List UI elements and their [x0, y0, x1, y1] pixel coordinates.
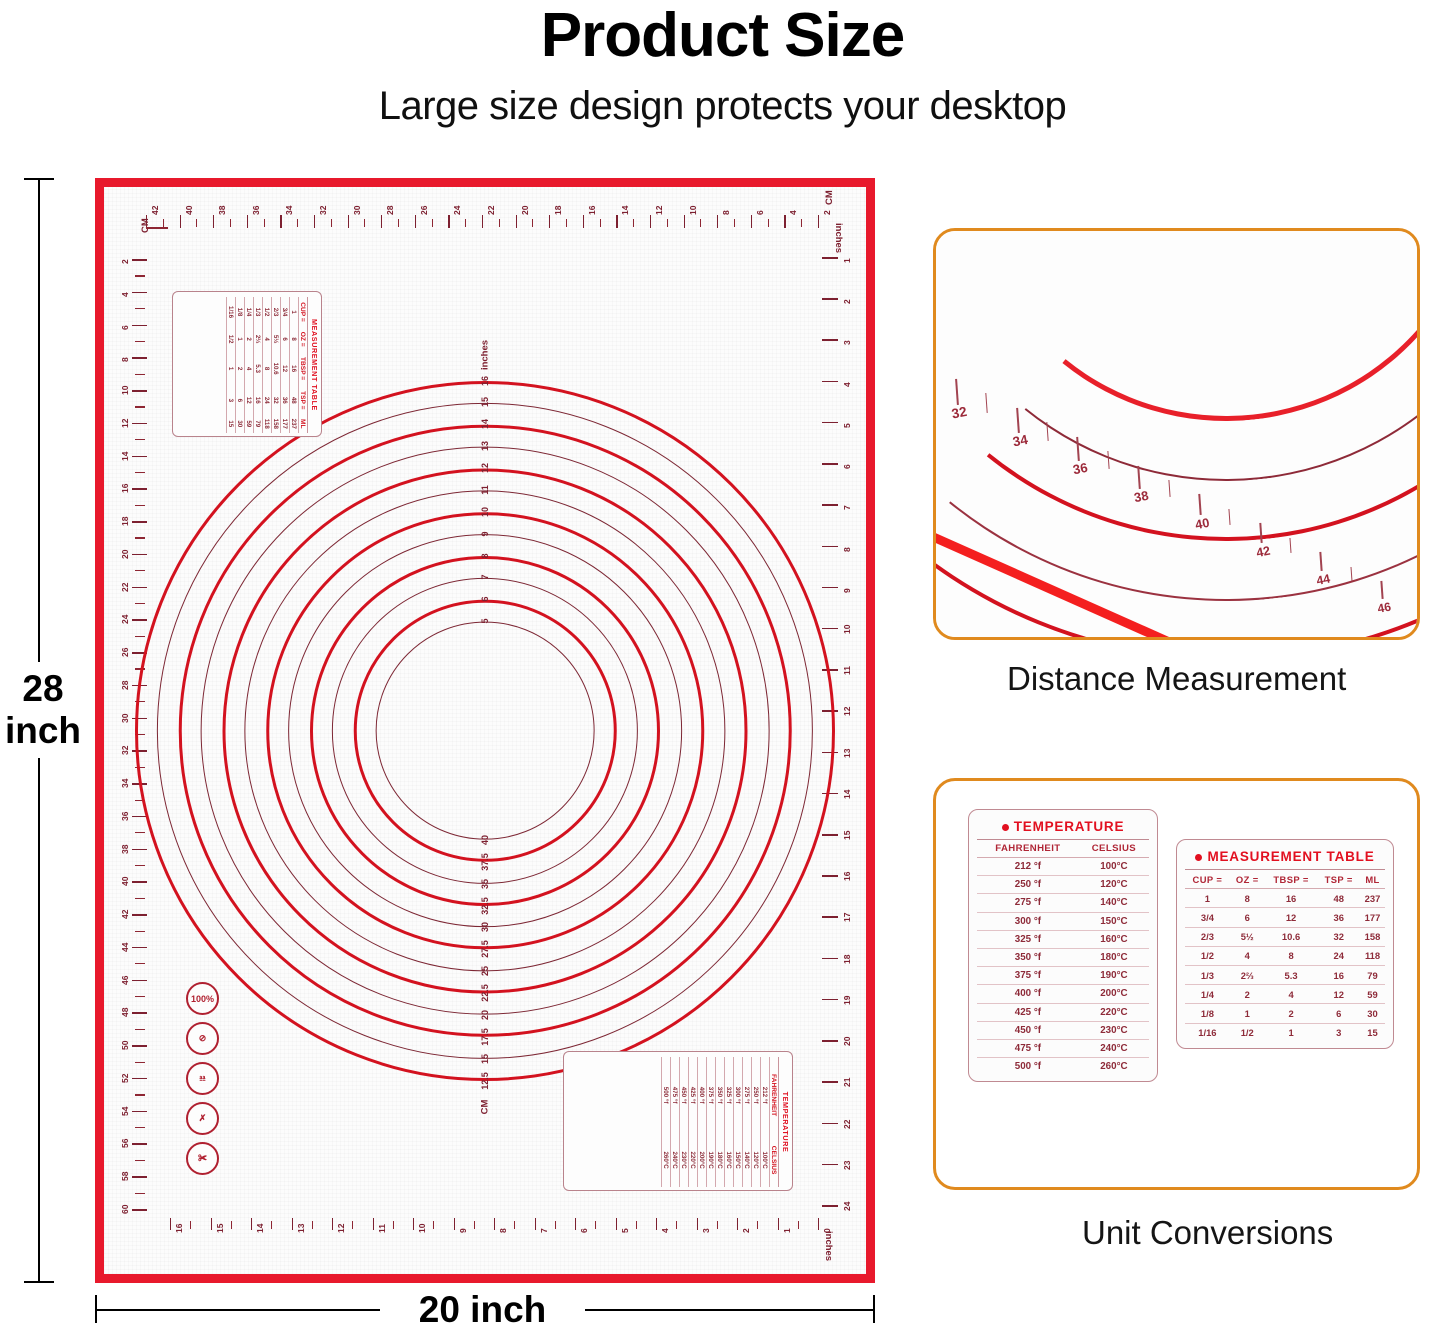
ruler-label: 16: [842, 872, 852, 881]
mat-meas-cell: 5½: [272, 327, 281, 351]
mat-meas-cell: 2: [236, 351, 245, 386]
mat-meas-header: CUP =: [299, 297, 308, 327]
temperature-row: 375 °f190°C: [977, 967, 1149, 985]
ruler-tick: [822, 463, 838, 465]
ruler-tick: [822, 999, 838, 1001]
ruler-tick: [132, 357, 147, 359]
ruler-label: 24: [120, 615, 130, 624]
measurement-cell: 12: [1317, 985, 1360, 1004]
mat-meas-cell: 1: [227, 351, 236, 386]
ruler-tick: [132, 980, 147, 982]
ruler-tick: [822, 958, 838, 960]
bullet-dot-icon: [1002, 824, 1009, 831]
ruler-tick: [650, 215, 651, 228]
mat-meas-cell: 158: [272, 415, 281, 433]
mat-meas-cell: 48: [290, 386, 299, 415]
ruler-label: 4: [842, 382, 852, 387]
temperature-safe-icon: ⎂: [186, 1062, 219, 1095]
measurement-cell: 2⅔: [1230, 965, 1265, 984]
mat-surface: 42403836343230282624222018161412108642CM…: [104, 187, 866, 1274]
temperature-cell: 425 °f: [977, 1003, 1079, 1021]
ruler-tick: [132, 292, 147, 294]
ruler-unit-label-inches-right: inches: [833, 223, 844, 253]
ruler-tick-minor: [465, 219, 466, 227]
ruler-label: 26: [120, 648, 130, 657]
mat-meas-row: 1/161/21315: [227, 297, 236, 433]
center-ruler-label-in-7: 7: [480, 575, 490, 580]
ruler-tick: [132, 881, 147, 883]
ruler-unit-label-inches-bottom: inches: [823, 1231, 834, 1261]
closeup-ruler-label-34: 34: [1011, 431, 1029, 449]
measurement-cell: 1: [1265, 1023, 1318, 1042]
measurement-cell: 158: [1360, 927, 1385, 946]
ruler-tick-minor: [633, 219, 634, 227]
mat-temp-cell: 220°C: [689, 1133, 698, 1187]
ruler-label: 32: [318, 206, 328, 215]
ruler-tick: [132, 488, 147, 490]
ruler-label: 36: [251, 206, 261, 215]
mat-temp-cell: 250 °f: [752, 1057, 761, 1133]
ruler-tick-minor: [135, 996, 145, 997]
food-grade-100-percent-icon-glyph: 100%: [191, 994, 214, 1004]
no-knife-cutting-icon: ✀: [186, 1142, 219, 1175]
measurement-row: 181648237: [1185, 889, 1385, 908]
mat-meas-row: 1/812630: [236, 297, 245, 433]
ruler-label: 10: [842, 624, 852, 633]
ruler-tick-minor: [676, 1221, 677, 1229]
center-ruler-label-cm-27.5: 27.5: [480, 940, 490, 958]
temperature-cell: 120°C: [1079, 876, 1149, 894]
mat-temp-cell: 450 °f: [680, 1057, 689, 1133]
ruler-tick-minor: [135, 1062, 145, 1063]
ruler-tick-minor: [798, 1221, 799, 1229]
measurement-cell: 237: [1360, 889, 1385, 908]
measurement-cell: 4: [1230, 946, 1265, 965]
ruler-unit-label-cm-topleft: CM: [140, 218, 151, 233]
center-ruler-label-in-9: 9: [480, 531, 490, 536]
ruler-tick-minor: [532, 219, 533, 227]
ruler-label: 58: [120, 1172, 130, 1181]
measurement-row: 1/161/21315: [1185, 1023, 1385, 1042]
measurement-cell: 177: [1360, 908, 1385, 927]
ruler-label: 15: [842, 831, 852, 840]
mat-meas-row: 1/4241259: [245, 297, 254, 433]
mat-temp-row: 375 °f190°C: [707, 1057, 716, 1187]
ruler-label: 12: [842, 707, 852, 716]
mat-temp-cell: 350 °f: [716, 1057, 725, 1133]
ruler-label: 16: [587, 206, 597, 215]
closeup-ruler-label-38: 38: [1133, 487, 1150, 504]
ruler-label: 2: [822, 210, 832, 215]
ruler-tick-minor: [595, 1221, 596, 1229]
measurement-cell: 6: [1230, 908, 1265, 927]
mat-temp-row: 250 °f120°C: [752, 1057, 761, 1187]
measurement-cell: 59: [1360, 985, 1385, 1004]
ruler-tick-minor: [135, 603, 145, 604]
measurement-row: 1/4241259: [1185, 985, 1385, 1004]
food-grade-100-percent-icon: 100%: [186, 982, 219, 1015]
ruler-tick: [778, 1218, 779, 1230]
temperature-row: 275 °f140°C: [977, 894, 1149, 912]
ruler-label: 14: [842, 789, 852, 798]
temperature-row: 212 °f100°C: [977, 858, 1149, 876]
ruler-tick: [332, 1218, 333, 1230]
no-sharp-tools-icon: ✗: [186, 1102, 219, 1135]
ruler-label: 52: [120, 1073, 130, 1082]
ruler-tick: [822, 298, 838, 300]
ruler-label: 16: [174, 1224, 184, 1233]
ruler-tick-minor: [163, 219, 164, 227]
mat-temp-row: 275 °f140°C: [743, 1057, 752, 1187]
ruler-tick-minor: [135, 636, 145, 637]
ruler-tick: [132, 619, 147, 621]
ruler-tick: [784, 215, 785, 228]
mat-meas-cell: 1/2: [227, 327, 236, 351]
ruler-tick: [717, 215, 718, 228]
width-dimension-line-left: [95, 1309, 380, 1311]
ruler-label: 9: [842, 588, 852, 593]
ruler-label: 16: [120, 484, 130, 493]
ruler-label: 30: [120, 713, 130, 722]
ruler-tick: [818, 215, 819, 228]
center-ruler-label-cm-20: 20: [480, 1010, 490, 1020]
measurement-conversion-card: MEASUREMENT TABLE CUP =OZ =TBSP =TSP =ML…: [1176, 839, 1394, 1049]
measurement-row: 1/812630: [1185, 1004, 1385, 1023]
measurement-cell: 5½: [1230, 927, 1265, 946]
ruler-tick: [575, 1218, 576, 1230]
ruler-tick: [132, 423, 147, 425]
ruler-label: 14: [120, 451, 130, 460]
ruler-label: 20: [842, 1037, 852, 1046]
ruler-label: 21: [842, 1078, 852, 1087]
ruler-unit-label-cm-top: CM: [824, 190, 835, 205]
ruler-label: 8: [842, 547, 852, 552]
mat-temp-cell: 275 °f: [743, 1057, 752, 1133]
center-ruler-label-cm-17.5: 17.5: [480, 1028, 490, 1046]
mat-temp-cell: 240°C: [671, 1133, 680, 1187]
ruler-label: 42: [120, 910, 130, 919]
ruler-tick: [132, 1209, 147, 1211]
closeup-ruler-label-46: 46: [1376, 599, 1392, 615]
mat-meas-header: OZ =: [299, 327, 308, 351]
temperature-conversion-card: TEMPERATURE FAHRENHEITCELSIUS212 °f100°C…: [968, 809, 1158, 1082]
ruler-tick: [373, 1218, 374, 1230]
measurement-cell: 4: [1265, 985, 1318, 1004]
mat-meas-cell: 3: [227, 386, 236, 415]
ruler-label: 28: [120, 680, 130, 689]
mat-meas-cell: 6: [236, 386, 245, 415]
measurement-cell: 2: [1230, 985, 1265, 1004]
measurement-cell: 48: [1317, 889, 1360, 908]
ruler-tick-minor: [135, 865, 145, 866]
measurement-cell: 3/4: [1185, 908, 1230, 927]
temperature-cell: 250 °f: [977, 876, 1079, 894]
measurement-row: 1/32⅔5.31679: [1185, 965, 1385, 984]
page-subtitle: Large size design protects your desktop: [0, 80, 1445, 132]
ruler-tick: [132, 914, 147, 916]
ruler-label: 28: [385, 206, 395, 215]
temperature-row: 325 °f160°C: [977, 930, 1149, 948]
ruler-label: 40: [184, 206, 194, 215]
temperature-cell: 500 °f: [977, 1058, 1079, 1076]
ruler-tick-minor: [135, 406, 145, 407]
temperature-cell: 212 °f: [977, 858, 1079, 876]
ruler-label: 1: [842, 258, 852, 263]
center-ruler-label-in-5: 5: [480, 619, 490, 624]
mat-meas-cell: 4: [263, 327, 272, 351]
ruler-label: 24: [842, 1202, 852, 1211]
ruler-label: 11: [377, 1224, 387, 1233]
ruler-label: 48: [120, 1008, 130, 1017]
ruler-tick: [292, 1218, 293, 1230]
ruler-label: 22: [120, 582, 130, 591]
ruler-tick: [448, 215, 449, 228]
mat-meas-cell: 12: [281, 351, 290, 386]
ruler-tick: [170, 1218, 171, 1230]
height-dimension-cap-bottom: [24, 1281, 54, 1283]
measurement-cell: 8: [1265, 946, 1318, 965]
ruler-label: 8: [120, 358, 130, 363]
ruler-label: 26: [419, 206, 429, 215]
temperature-header-cell: CELSIUS: [1079, 840, 1149, 858]
ruler-label: 6: [120, 325, 130, 330]
measurement-cell: 16: [1317, 965, 1360, 984]
center-ruler-label-cm-25: 25: [480, 966, 490, 976]
ruler-tick-minor: [271, 1221, 272, 1229]
ruler-label: 38: [217, 206, 227, 215]
ruler-label: 8: [721, 210, 731, 215]
ruler-tick: [132, 849, 147, 851]
measurement-cell: 118: [1360, 946, 1385, 965]
measurement-cell: 16: [1265, 889, 1318, 908]
width-dimension-label: 20 inch: [380, 1288, 585, 1332]
ruler-tick: [822, 381, 838, 383]
mat-meas-cell: 1: [236, 327, 245, 351]
ruler-label: 5: [620, 1228, 630, 1233]
temperature-cell: 150°C: [1079, 912, 1149, 930]
ruler-tick: [822, 504, 838, 506]
temperature-row: 250 °f120°C: [977, 876, 1149, 894]
ruler-label: 20: [120, 549, 130, 558]
ruler-tick: [180, 215, 181, 228]
height-value: 28: [0, 668, 86, 710]
ruler-tick: [822, 1081, 838, 1083]
closeup-ruler-label-42: 42: [1255, 543, 1271, 560]
ruler-label: 10: [417, 1224, 427, 1233]
mat-temp-row: 325 °f160°C: [725, 1057, 734, 1187]
measurement-cell: 32: [1317, 927, 1360, 946]
mat-care-icon-list: 100%⊘⎂✗✀: [186, 982, 219, 1182]
temperature-row: 425 °f220°C: [977, 1003, 1149, 1021]
mat-meas-cell: 24: [263, 386, 272, 415]
ruler-label: 18: [842, 954, 852, 963]
ruler-tick: [132, 521, 147, 523]
measurement-header-cell: OZ =: [1230, 870, 1265, 889]
mat-meas-cell: 1/16: [227, 297, 236, 327]
no-knife-cutting-icon-glyph: ✀: [198, 1153, 207, 1164]
ruler-label: 18: [553, 206, 563, 215]
ruler-label: 4: [120, 292, 130, 297]
ruler-tick: [132, 259, 147, 261]
mat-meas-cell: 4: [245, 351, 254, 386]
distance-measurement-panel: 3234363840424446: [933, 228, 1420, 640]
mat-closeup-photo: 3234363840424446: [936, 231, 1417, 637]
mat-meas-cell: 118: [263, 415, 272, 433]
ruler-tick-minor: [135, 275, 145, 276]
ruler-label: 2: [842, 299, 852, 304]
center-ruler-label-cm-40: 40: [480, 835, 490, 845]
mat-temp-cell: 212 °f: [761, 1057, 770, 1133]
mat-meas-row: 181648237: [290, 297, 299, 433]
ruler-tick-minor: [135, 1193, 145, 1194]
center-ruler-unit-inches: inches: [480, 339, 491, 369]
ruler-label: 14: [620, 206, 630, 215]
product-size-infographic: Product Size Large size design protects …: [0, 0, 1445, 1336]
ruler-label: 30: [352, 206, 362, 215]
ruler-tick: [822, 834, 838, 836]
center-ruler-label-in-13: 13: [480, 441, 490, 451]
ruler-tick-minor: [135, 1127, 145, 1128]
ruler-label: 15: [215, 1224, 225, 1233]
temperature-cell: 275 °f: [977, 894, 1079, 912]
ruler-tick: [454, 1218, 455, 1230]
ruler-tick-minor: [135, 931, 145, 932]
ruler-label: 46: [120, 975, 130, 984]
center-ruler-label-cm-32.5: 32.5: [480, 897, 490, 915]
mat-meas-row: 1/32⅔5.31679: [254, 297, 263, 433]
temperature-row: 350 °f180°C: [977, 948, 1149, 966]
center-ruler-label-cm-37.5: 37.5: [480, 853, 490, 871]
measurement-row: 2/35½10.632158: [1185, 927, 1385, 946]
ruler-tick-minor: [757, 1221, 758, 1229]
ruler-tick-minor: [555, 1221, 556, 1229]
center-ruler-label-cm-12.5: 12.5: [480, 1072, 490, 1090]
ruler-tick-minor: [135, 898, 145, 899]
ruler-tick-minor: [135, 308, 145, 309]
ruler-tick: [822, 1040, 838, 1042]
ruler-tick: [132, 456, 147, 458]
mat-meas-cell: 2⅔: [254, 327, 263, 351]
ruler-label: 5: [842, 423, 852, 428]
mat-meas-cell: 10.6: [272, 351, 281, 386]
measurement-cell: 79: [1360, 965, 1385, 984]
measurement-cell: 2/3: [1185, 927, 1230, 946]
mat-temp-row: 400 °f200°C: [698, 1057, 707, 1187]
ruler-tick-minor: [734, 219, 735, 227]
mat-temp-row: 350 °f180°C: [716, 1057, 725, 1187]
mat-meas-cell: 1/4: [245, 297, 254, 327]
mat-meas-cell: 30: [236, 415, 245, 433]
temperature-row: 475 °f240°C: [977, 1039, 1149, 1057]
center-ruler-label-cm-15: 15: [480, 1054, 490, 1064]
measurement-cell: 8: [1230, 889, 1265, 908]
temperature-cell: 325 °f: [977, 930, 1079, 948]
mat-meas-cell: 15: [227, 415, 236, 433]
mat-meas-cell: 2: [245, 327, 254, 351]
temperature-cell: 400 °f: [977, 985, 1079, 1003]
ruler-tick-minor: [566, 219, 567, 227]
center-ruler-label-in-16: 16: [480, 375, 490, 385]
ruler-label: 11: [842, 666, 852, 675]
mat-temp-row: 212 °f100°C: [761, 1057, 770, 1187]
ruler-tick: [616, 1218, 617, 1230]
mat-temp-cell: 140°C: [743, 1133, 752, 1187]
measurement-cell: 1: [1185, 889, 1230, 908]
ruler-tick: [132, 1143, 147, 1145]
mat-temp-cell: 230°C: [680, 1133, 689, 1187]
temperature-cell: 230°C: [1079, 1021, 1149, 1039]
measurement-cell: 5.3: [1265, 965, 1318, 984]
mat-meas-cell: 1: [290, 297, 299, 327]
ruler-label: 36: [120, 811, 130, 820]
measurement-header-cell: TSP =: [1317, 870, 1360, 889]
temperature-row: 450 °f230°C: [977, 1021, 1149, 1039]
ruler-tick-minor: [135, 341, 145, 342]
ruler-label: 1: [782, 1228, 792, 1233]
temperature-cell: 180°C: [1079, 948, 1149, 966]
temperature-table: FAHRENHEITCELSIUS212 °f100°C250 °f120°C2…: [977, 840, 1149, 1075]
ruler-label: 20: [520, 206, 530, 215]
ruler-label: 7: [539, 1228, 549, 1233]
ruler-label: 40: [120, 877, 130, 886]
ruler-tick-minor: [432, 219, 433, 227]
center-ruler-label-in-6: 6: [480, 597, 490, 602]
ruler-tick-minor: [135, 439, 145, 440]
mat-temp-cell: 120°C: [752, 1133, 761, 1187]
ruler-tick-minor: [636, 1221, 637, 1229]
measurement-cell: 24: [1317, 946, 1360, 965]
ruler-tick-minor: [135, 472, 145, 473]
mat-temp-cell: 375 °f: [707, 1057, 716, 1133]
mat-meas-cell: 2/3: [272, 297, 281, 327]
ruler-tick: [822, 587, 838, 589]
ruler-tick-minor: [331, 219, 332, 227]
ruler-tick-minor: [135, 1160, 145, 1161]
center-ruler-unit-cm: CM: [480, 1099, 491, 1114]
mat-meas-cell: 1/8: [236, 297, 245, 327]
ruler-tick-minor: [352, 1221, 353, 1229]
ruler-label: 7: [842, 506, 852, 511]
height-unit: inch: [0, 710, 86, 752]
center-ruler-label-in-15: 15: [480, 397, 490, 407]
measurement-table: CUP =OZ =TBSP =TSP =ML1816482373/4612361…: [1185, 870, 1385, 1042]
mat-temp-cell: 325 °f: [725, 1057, 734, 1133]
closeup-ruler-label-32: 32: [950, 403, 968, 421]
ruler-label: 12: [120, 418, 130, 427]
ruler-label: 10: [688, 206, 698, 215]
ruler-tick-minor: [196, 219, 197, 227]
mat-temp-cell: 300 °f: [734, 1057, 743, 1133]
mat-temp-header: CELSIUS: [770, 1133, 779, 1187]
ruler-tick: [818, 1218, 819, 1230]
temperature-cell: 220°C: [1079, 1003, 1149, 1021]
mat-meas-cell: 12: [245, 386, 254, 415]
mat-temp-cell: 475 °f: [671, 1057, 680, 1133]
ruler-label: 3: [842, 341, 852, 346]
ruler-label: 2: [120, 259, 130, 264]
ruler-label: 3: [701, 1228, 711, 1233]
ruler-label: 38: [120, 844, 130, 853]
ruler-tick: [132, 587, 147, 589]
ruler-tick-minor: [135, 374, 145, 375]
temperature-cell: 240°C: [1079, 1039, 1149, 1057]
ruler-label: 56: [120, 1139, 130, 1148]
measurement-title-text: MEASUREMENT TABLE: [1207, 849, 1374, 864]
temperature-row: 300 °f150°C: [977, 912, 1149, 930]
ruler-tick: [213, 215, 214, 228]
ruler-tick: [737, 1218, 738, 1230]
ruler-label: 14: [255, 1224, 265, 1233]
